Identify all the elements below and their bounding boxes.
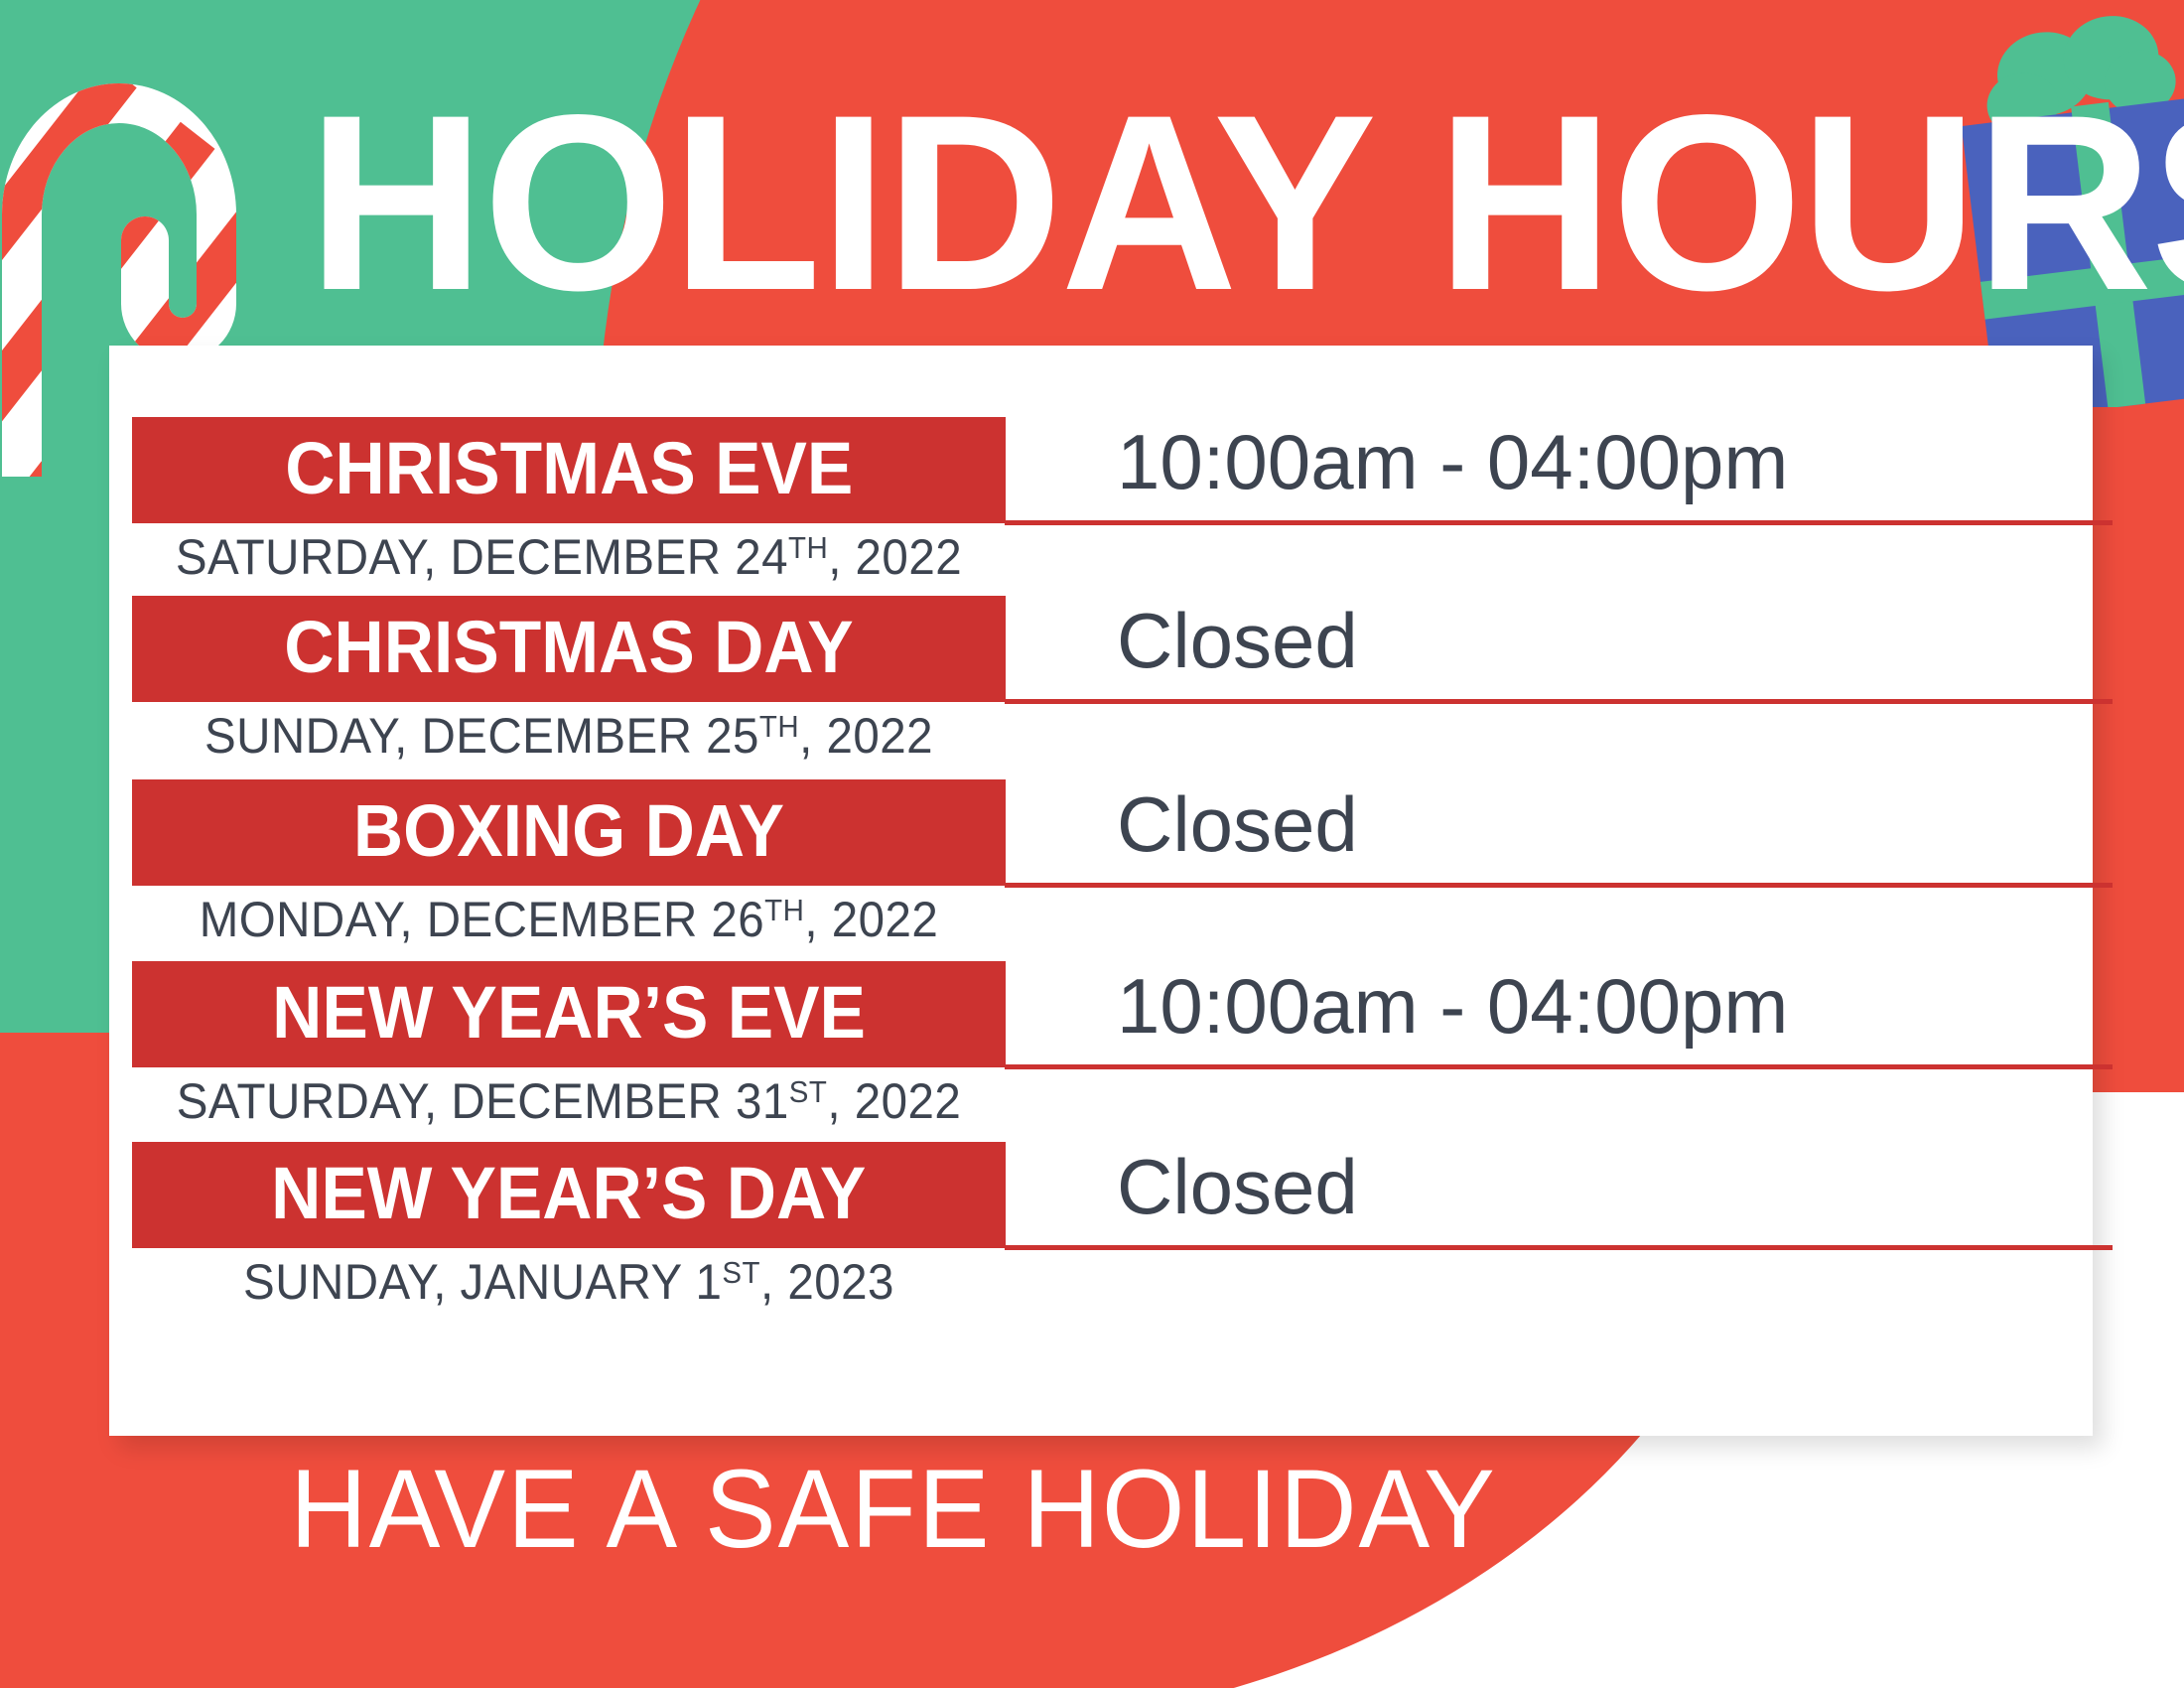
date-suffix: , 2022: [804, 892, 938, 947]
holiday-name-label: CHRISTMAS DAY: [284, 609, 853, 686]
page-title: HOLIDAY HOURS: [308, 89, 1874, 318]
date-ordinal: ST: [789, 1074, 828, 1109]
row-divider: [1005, 1245, 2113, 1250]
hours-value: 10:00am - 04:00pm: [1117, 403, 2110, 520]
row-divider: [1005, 520, 2113, 525]
holiday-name-label: BOXING DAY: [353, 792, 784, 870]
hours-value: Closed: [1117, 766, 2110, 883]
schedule-row: BOXING DAY Closed MONDAY, DECEMBER 26TH,…: [109, 779, 2093, 960]
date-ordinal: TH: [788, 530, 828, 565]
date-ordinal: ST: [722, 1255, 760, 1290]
row-divider: [1005, 883, 2113, 888]
date-prefix: SATURDAY, DECEMBER 24: [176, 529, 788, 585]
holiday-name-label: NEW YEAR’S EVE: [272, 974, 866, 1052]
date-suffix: , 2022: [827, 1073, 961, 1129]
date-ordinal: TH: [759, 709, 799, 744]
holiday-date: SATURDAY, DECEMBER 31ST, 2022: [154, 1070, 984, 1132]
holiday-name-band: CHRISTMAS DAY: [132, 596, 1006, 702]
holiday-date: MONDAY, DECEMBER 26TH, 2022: [154, 889, 984, 950]
schedule-row: NEW YEAR’S DAY Closed SUNDAY, JANUARY 1S…: [109, 1142, 2093, 1323]
schedule-row: NEW YEAR’S EVE 10:00am - 04:00pm SATURDA…: [109, 961, 2093, 1142]
date-ordinal: TH: [764, 893, 804, 927]
hours-value: 10:00am - 04:00pm: [1117, 947, 2110, 1064]
date-prefix: SUNDAY, JANUARY 1: [243, 1254, 722, 1310]
holiday-name-label: NEW YEAR’S DAY: [271, 1155, 866, 1232]
holiday-name-band: BOXING DAY: [132, 779, 1006, 886]
holiday-hours-poster: HOLIDAY HOURS CHRISTMAS EVE 10:00am - 04…: [0, 0, 2184, 1688]
row-divider: [1005, 699, 2113, 704]
holiday-name-band: CHRISTMAS EVE: [132, 417, 1006, 523]
date-suffix: , 2022: [799, 708, 933, 764]
holiday-name-band: NEW YEAR’S DAY: [132, 1142, 1006, 1248]
schedule-row: CHRISTMAS EVE 10:00am - 04:00pm SATURDAY…: [109, 417, 2093, 598]
hours-value: Closed: [1117, 582, 2110, 699]
row-divider: [1005, 1064, 2113, 1069]
holiday-date: SUNDAY, JANUARY 1ST, 2023: [154, 1251, 984, 1313]
schedule-rows: CHRISTMAS EVE 10:00am - 04:00pm SATURDAY…: [109, 346, 2093, 1436]
schedule-row: CHRISTMAS DAY Closed SUNDAY, DECEMBER 25…: [109, 596, 2093, 776]
footer-message: HAVE A SAFE HOLIDAY: [36, 1445, 1751, 1574]
date-suffix: , 2022: [828, 529, 962, 585]
holiday-date: SATURDAY, DECEMBER 24TH, 2022: [154, 526, 984, 588]
date-prefix: SATURDAY, DECEMBER 31: [177, 1073, 789, 1129]
holiday-date: SUNDAY, DECEMBER 25TH, 2022: [154, 705, 984, 767]
hours-value: Closed: [1117, 1128, 2110, 1245]
date-prefix: MONDAY, DECEMBER 26: [200, 892, 764, 947]
date-suffix: , 2023: [760, 1254, 894, 1310]
date-prefix: SUNDAY, DECEMBER 25: [205, 708, 759, 764]
holiday-name-band: NEW YEAR’S EVE: [132, 961, 1006, 1067]
holiday-name-label: CHRISTMAS EVE: [285, 430, 853, 507]
schedule-card: CHRISTMAS EVE 10:00am - 04:00pm SATURDAY…: [109, 346, 2093, 1436]
